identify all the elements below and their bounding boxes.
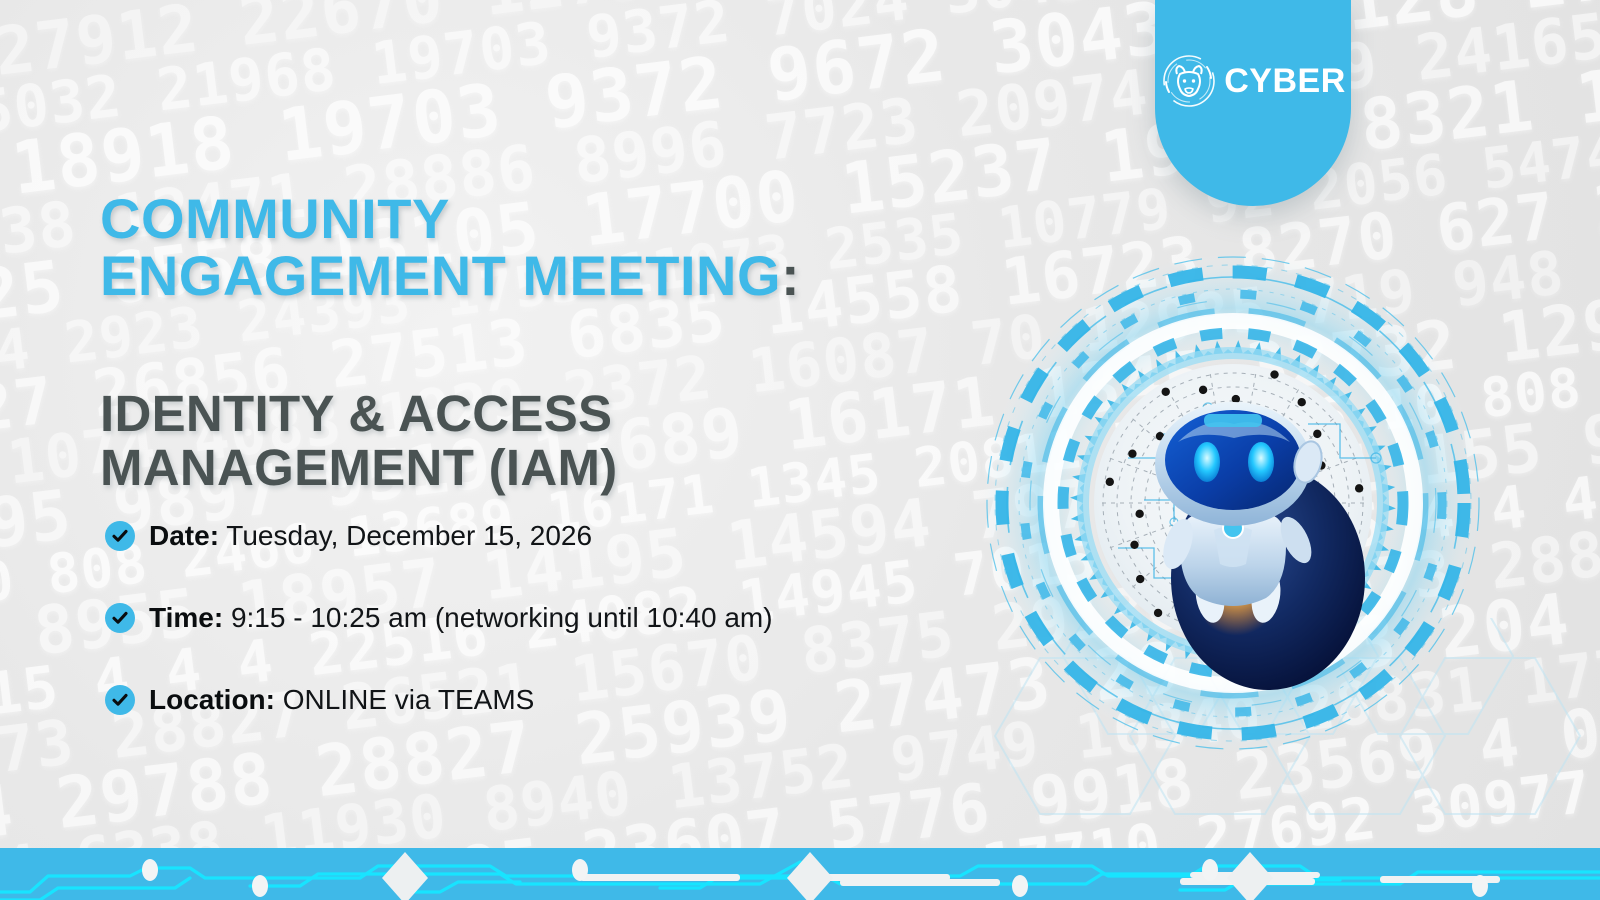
poster-content: COMMUNITY ENGAGEMENT MEETING: IDENTITY &… (0, 0, 1000, 900)
bar-dot (1012, 875, 1028, 897)
subtitle-line-1: IDENTITY & ACCESS (100, 385, 612, 442)
detail-text: Location: ONLINE via TEAMS (149, 686, 534, 714)
brand-name: CYBER (1224, 64, 1346, 98)
check-circle-icon (105, 603, 135, 633)
poster-canvas: 8122 27912 22670 12796 3111 8122 27912 2… (0, 0, 1600, 900)
title-line-2: ENGAGEMENT MEETING (100, 244, 781, 307)
robot-mascot-artwork (978, 248, 1488, 758)
list-item: Date: Tuesday, December 15, 2026 (105, 512, 965, 560)
bull-head-circuit-icon (1160, 52, 1218, 110)
page-subtitle: IDENTITY & ACCESS MANAGEMENT (IAM) (100, 387, 960, 495)
bottom-decorative-bar (0, 848, 1600, 900)
detail-text: Time: 9:15 - 10:25 am (networking until … (149, 604, 773, 632)
detail-value: ONLINE via TEAMS (283, 684, 535, 715)
bar-dot (572, 859, 588, 881)
bar-dot (1472, 875, 1488, 897)
detail-value: 9:15 - 10:25 am (networking until 10:40 … (231, 602, 773, 633)
list-item: Time: 9:15 - 10:25 am (networking until … (105, 594, 965, 642)
bar-dot (252, 875, 268, 897)
bar-dot (142, 859, 158, 881)
title-line-1: COMMUNITY (100, 187, 450, 250)
detail-label: Time: (149, 602, 223, 633)
check-circle-icon (105, 521, 135, 551)
list-item: Location: ONLINE via TEAMS (105, 676, 965, 724)
detail-label: Date: (149, 520, 219, 551)
bar-diamond (787, 852, 833, 900)
bar-dot (1202, 859, 1218, 881)
detail-value: Tuesday, December 15, 2026 (226, 520, 592, 551)
bar-diamond (1227, 852, 1273, 900)
check-circle-icon (105, 685, 135, 715)
detail-label: Location: (149, 684, 275, 715)
page-title: COMMUNITY ENGAGEMENT MEETING: (100, 190, 960, 305)
brand-logo-badge: CYBER (1155, 0, 1351, 206)
title-colon: : (781, 244, 800, 307)
detail-text: Date: Tuesday, December 15, 2026 (149, 522, 592, 550)
subtitle-line-2: MANAGEMENT (IAM) (100, 439, 618, 496)
event-details-list: Date: Tuesday, December 15, 2026 Time: 9… (105, 512, 965, 758)
